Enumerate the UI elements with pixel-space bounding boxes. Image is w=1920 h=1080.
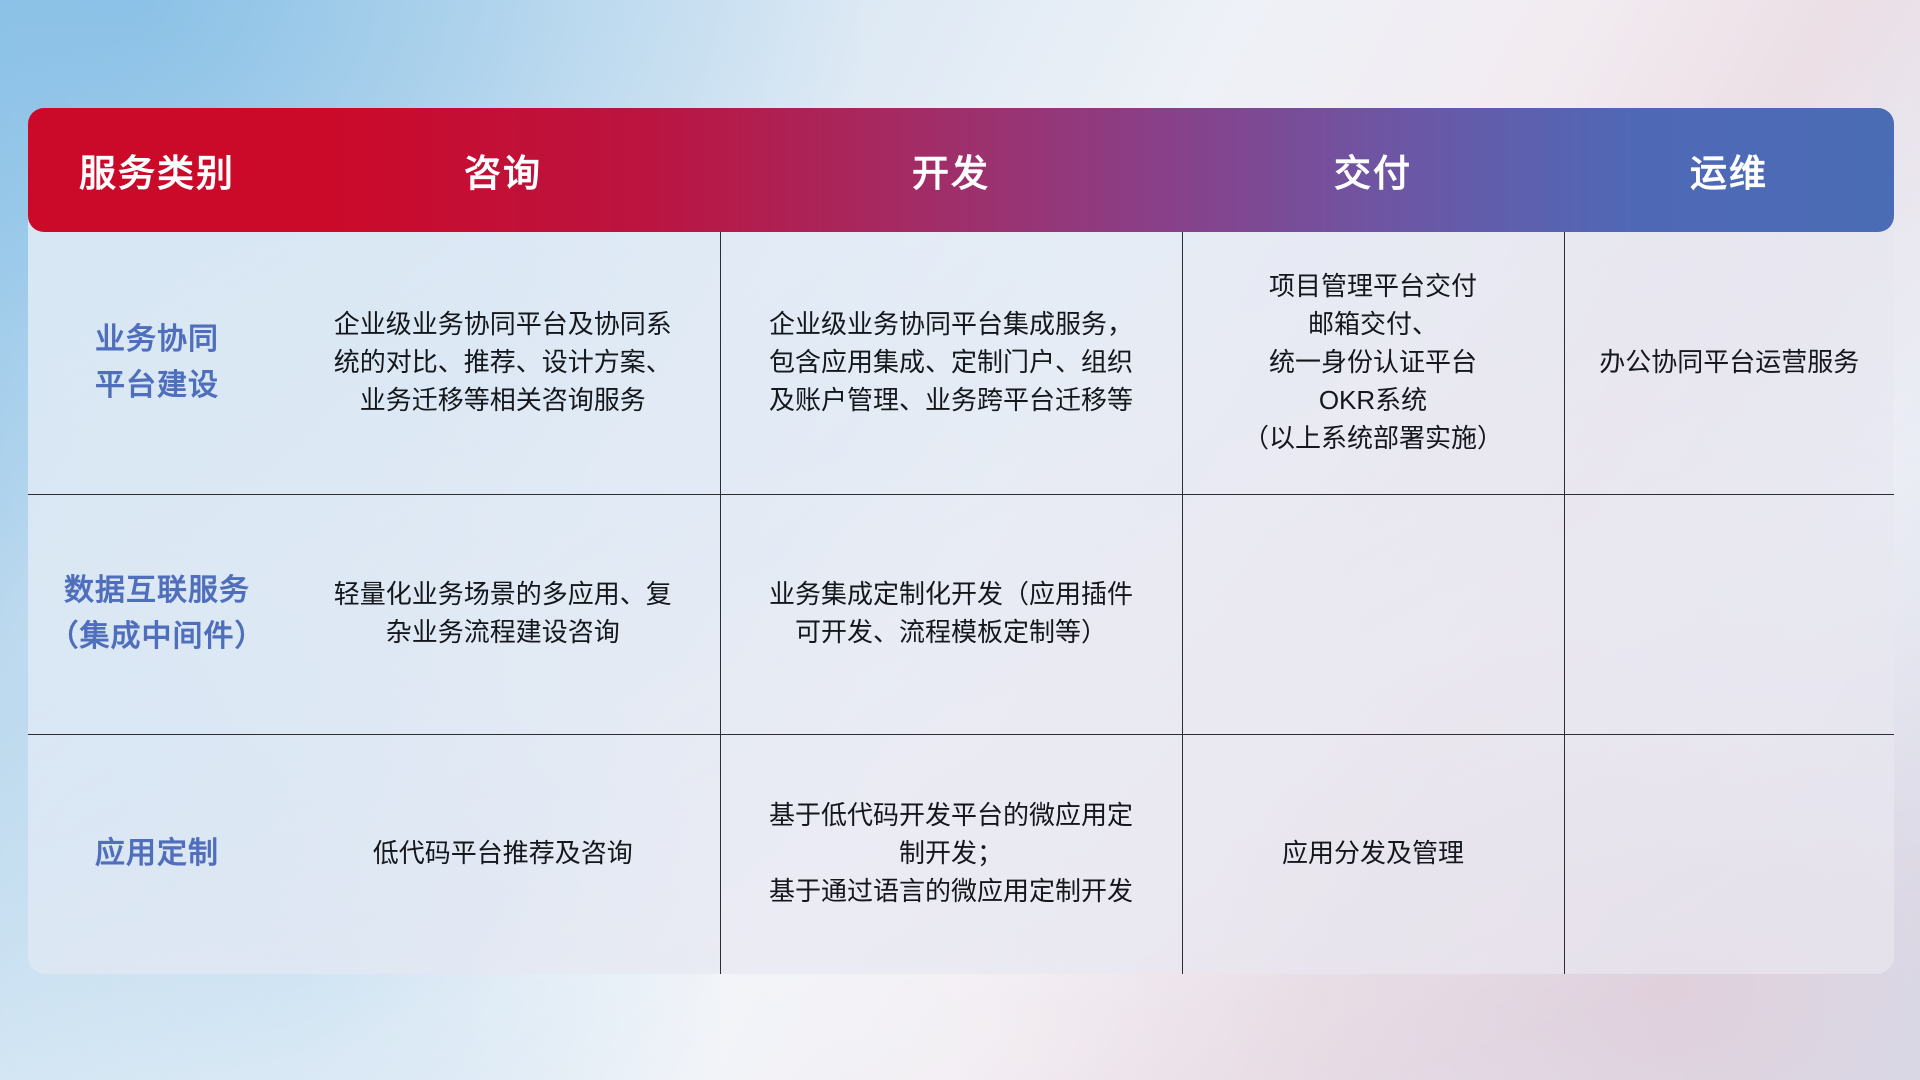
cell-row3-consulting: 低代码平台推荐及咨询 xyxy=(286,734,720,974)
table-row: 业务协同 平台建设 企业级业务协同平台及协同系 统的对比、推荐、设计方案、 业务… xyxy=(28,232,1894,494)
header-cell-operations[interactable]: 运维 xyxy=(1564,108,1894,232)
row-label-app-customization: 应用定制 xyxy=(28,734,286,974)
table-header: 服务类别 咨询 开发 交付 运维 xyxy=(28,108,1894,232)
cell-row3-delivery: 应用分发及管理 xyxy=(1182,734,1564,974)
cell-row2-development: 业务集成定制化开发（应用插件 可开发、流程模板定制等） xyxy=(720,494,1182,734)
header-cell-development[interactable]: 开发 xyxy=(720,108,1182,232)
row-label-data-integration: 数据互联服务 （集成中间件） xyxy=(28,494,286,734)
header-cell-delivery[interactable]: 交付 xyxy=(1182,108,1564,232)
header-cell-consulting[interactable]: 咨询 xyxy=(286,108,720,232)
table-row: 应用定制 低代码平台推荐及咨询 基于低代码开发平台的微应用定 制开发； 基于通过… xyxy=(28,734,1894,974)
header-row: 服务类别 咨询 开发 交付 运维 xyxy=(28,108,1894,232)
cell-row2-consulting: 轻量化业务场景的多应用、复 杂业务流程建设咨询 xyxy=(286,494,720,734)
cell-row2-operations xyxy=(1564,494,1894,734)
cell-row1-delivery: 项目管理平台交付 邮箱交付、 统一身份认证平台 OKR系统 （以上系统部署实施） xyxy=(1182,232,1564,494)
cell-row1-development: 企业级业务协同平台集成服务， 包含应用集成、定制门户、组织 及账户管理、业务跨平… xyxy=(720,232,1182,494)
cell-row1-consulting: 企业级业务协同平台及协同系 统的对比、推荐、设计方案、 业务迁移等相关咨询服务 xyxy=(286,232,720,494)
cell-row3-operations xyxy=(1564,734,1894,974)
header-cell-category[interactable]: 服务类别 xyxy=(28,108,286,232)
cell-row2-delivery xyxy=(1182,494,1564,734)
service-matrix: 服务类别 咨询 开发 交付 运维 业务协同 平台建设 企业级业务协同平台及协同系… xyxy=(28,108,1894,974)
cell-row1-operations: 办公协同平台运营服务 xyxy=(1564,232,1894,494)
row-label-business-collaboration: 业务协同 平台建设 xyxy=(28,232,286,494)
service-matrix-table: 服务类别 咨询 开发 交付 运维 业务协同 平台建设 企业级业务协同平台及协同系… xyxy=(28,108,1894,974)
table-body: 业务协同 平台建设 企业级业务协同平台及协同系 统的对比、推荐、设计方案、 业务… xyxy=(28,232,1894,974)
cell-row3-development: 基于低代码开发平台的微应用定 制开发； 基于通过语言的微应用定制开发 xyxy=(720,734,1182,974)
table-row: 数据互联服务 （集成中间件） 轻量化业务场景的多应用、复 杂业务流程建设咨询 业… xyxy=(28,494,1894,734)
